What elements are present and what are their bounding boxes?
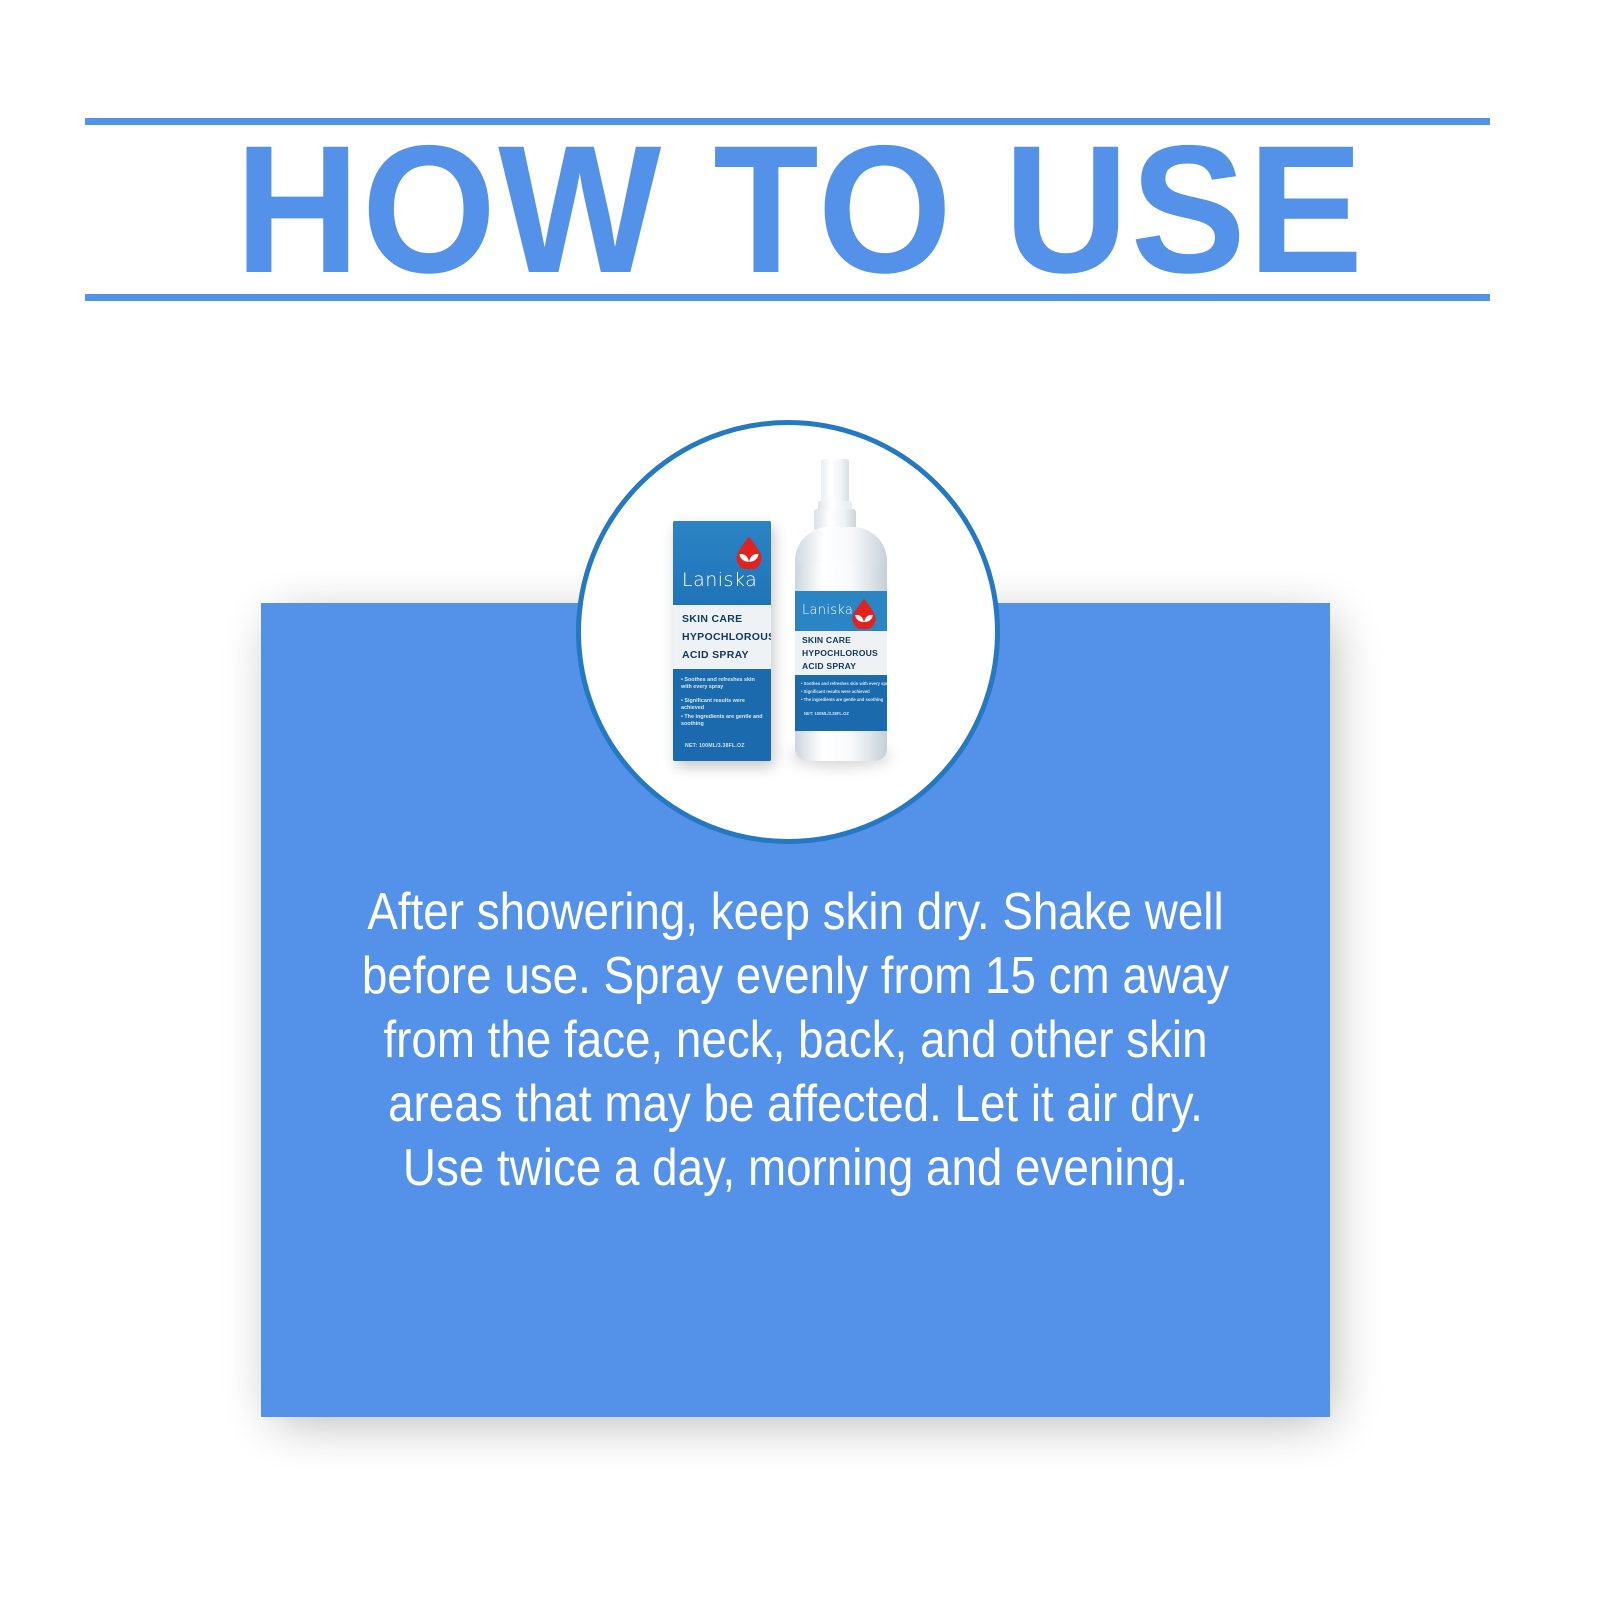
bottle-bullet-3: • The ingredients are gentle and soothin… xyxy=(801,697,883,703)
product-image-circle: Laniska SKIN CARE HYPOCHLOROUS ACID SPRA… xyxy=(576,420,1000,844)
carton-bullet-3: • The ingredients are gentle and soothin… xyxy=(681,714,765,728)
bottle-headline-line1: SKIN CARE xyxy=(802,635,851,645)
carton-headline-line2: HYPOCHLOROUS xyxy=(682,631,771,643)
product-bottle: Laniska SKIN CARE HYPOCHLOROUS ACID SPRA… xyxy=(789,459,893,761)
brand-drop-logo-icon xyxy=(851,597,877,629)
bottle-bullet-1: • Soothes and refreshes skin with every … xyxy=(801,681,883,687)
carton-headline-line3: ACID SPRAY xyxy=(682,649,749,661)
bottle-net-content: NET: 100ML/3.38FL.OZ xyxy=(804,711,849,716)
bottle-body: Laniska SKIN CARE HYPOCHLOROUS ACID SPRA… xyxy=(795,563,887,761)
bottle-label: Laniska SKIN CARE HYPOCHLOROUS ACID SPRA… xyxy=(795,591,887,731)
carton-net-content: NET: 100ML/3.38FL.OZ xyxy=(685,743,745,749)
brand-drop-logo-icon xyxy=(735,535,763,569)
bottle-headline-line3: ACID SPRAY xyxy=(802,661,856,671)
carton-bullet-2: • Significant results were achieved xyxy=(681,698,765,712)
product-photo: Laniska SKIN CARE HYPOCHLOROUS ACID SPRA… xyxy=(581,425,1000,844)
header: HOW TO USE xyxy=(0,0,1600,320)
carton-brand-name: Laniska xyxy=(682,569,757,591)
page-title: HOW TO USE xyxy=(40,125,1560,293)
carton-headline-line1: SKIN CARE xyxy=(682,613,742,625)
header-rule-bottom xyxy=(85,294,1490,301)
instructions-text: After showering, keep skin dry. Shake we… xyxy=(325,880,1266,1200)
bottle-headline-line2: HYPOCHLOROUS xyxy=(802,648,878,658)
carton-bullet-1: • Soothes and refreshes skin with every … xyxy=(681,677,765,691)
product-carton: Laniska SKIN CARE HYPOCHLOROUS ACID SPRA… xyxy=(673,521,771,761)
bottle-bullet-2: • Significant results were achieved xyxy=(801,689,883,695)
spray-nozzle-cap-icon xyxy=(821,459,849,503)
bottle-brand-name: Laniska xyxy=(802,603,853,618)
